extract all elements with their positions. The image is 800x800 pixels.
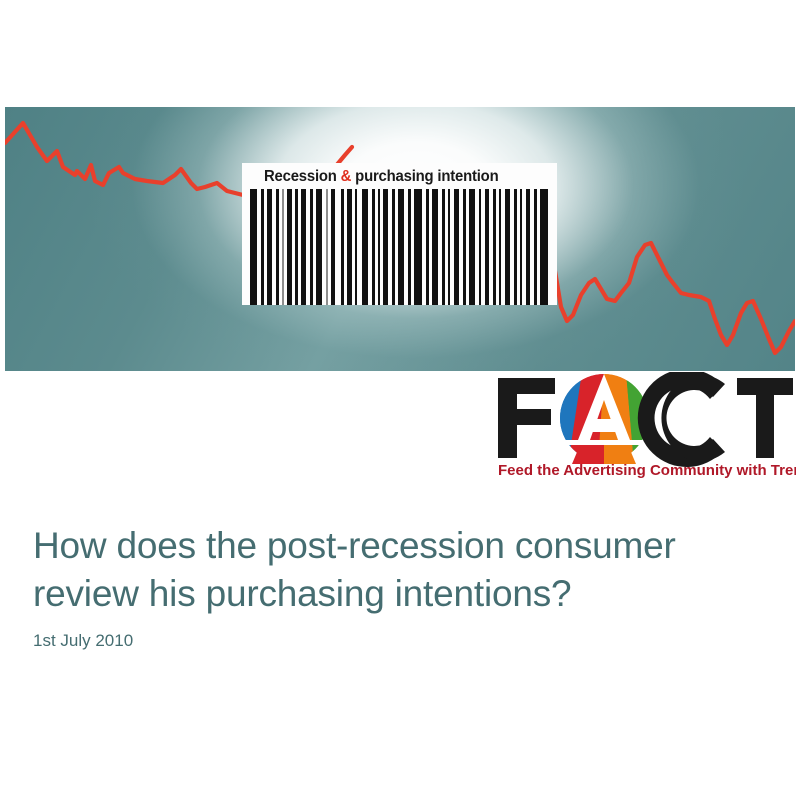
logo-tagline: Feed the Advertising Community with Tren… [498,462,796,478]
barcode-bars [242,189,557,305]
page-title-line-2: review his purchasing intentions? [33,570,753,618]
slide-root: Recession & purchasing intention [0,0,800,800]
slide-date: 1st July 2010 [33,631,133,651]
page-title-line-1: How does the post-recession consumer [33,525,676,566]
barcode-title-ampersand: & [341,168,352,185]
fact-logo-graphic: Feed the Advertising Community with Tren… [494,372,796,478]
logo-letter-c [638,372,725,467]
fact-logo: Feed the Advertising Community with Tren… [494,372,796,478]
banner-image: Recession & purchasing intention [5,107,795,371]
logo-letter-f [498,378,555,458]
page-title: How does the post-recession consumer rev… [33,522,753,618]
barcode-title-suffix: purchasing intention [351,168,498,185]
barcode-title-prefix: Recession [264,168,341,185]
logo-letter-t [737,378,793,458]
barcode-graphic: Recession & purchasing intention [242,163,557,305]
barcode-title: Recession & purchasing intention [264,168,533,186]
